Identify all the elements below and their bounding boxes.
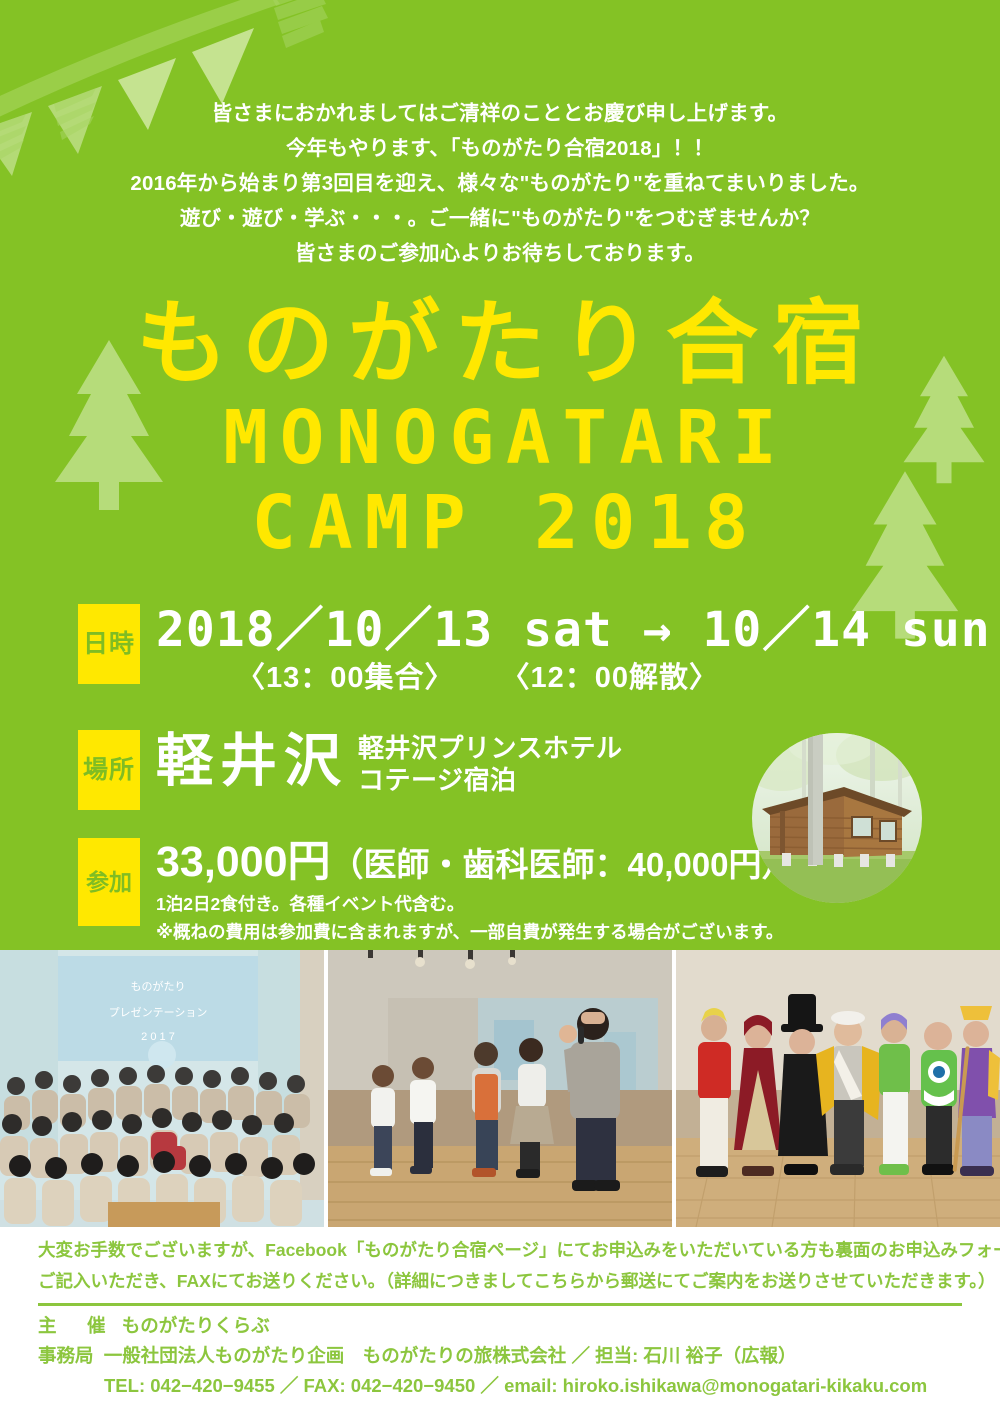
title-english-line2: CAMP 2018 xyxy=(0,480,1000,566)
datetime-gather: 〈13：00集合〉 xyxy=(236,662,455,694)
stage-presentation-photo xyxy=(328,950,672,1227)
place-name: 軽井沢 xyxy=(156,730,348,792)
place-detail-line1: 軽井沢プリンスホテル xyxy=(358,732,622,764)
footer-note-line2: ご記入いただき、FAXにてお送りください。（詳細につきましてこちらから郵送にてご… xyxy=(38,1266,962,1297)
place-main-wrap: 軽井沢 軽井沢プリンスホテル コテージ宿泊 xyxy=(156,730,622,796)
organizer-row: 主 催 ものがたりくらぶ xyxy=(38,1311,978,1341)
poster-root: 皆さまにおかれましてはご清祥のこととお慶び申し上げます。 今年もやります、「もの… xyxy=(0,0,1000,1414)
footer-note-line1: 大変お手数でございますが、Facebook「ものがたり合宿ページ」にてお申込みを… xyxy=(38,1235,962,1266)
intro-line-5: 皆さまのご参加心よりお待ちしております。 xyxy=(0,236,1000,271)
organizer-label: 主 催 xyxy=(38,1311,112,1341)
datetime-sub: 〈13：00集合〉〈12：00解散〉 xyxy=(156,656,991,700)
svg-text:ものがたり: ものがたり xyxy=(131,979,186,993)
secretariat-value: 一般社団法人ものがたり企画 ものがたりの旅株式会社 ／ 担当: 石川 裕子（広報… xyxy=(104,1345,797,1366)
intro-line-4: 遊び・遊び・学ぶ・・・。ご一緒に"ものがたり"をつむぎませんか？ xyxy=(0,201,1000,236)
place-detail-line2: コテージ宿泊 xyxy=(358,764,622,796)
fee-amount: 33,000円 xyxy=(156,838,331,886)
place-detail: 軽井沢プリンスホテル コテージ宿泊 xyxy=(348,730,622,796)
costume-group-photo xyxy=(676,950,1000,1227)
footer-application-note: 大変お手数でございますが、Facebook「ものがたり合宿ページ」にてお申込みを… xyxy=(38,1235,962,1297)
tag-fee-label: 参加費 xyxy=(78,838,140,926)
intro-line-3: 2016年から始まり第3回目を迎え、様々な"ものがたり"を重ねてまいりました。 xyxy=(0,166,1000,201)
tag-datetime-label: 日時 xyxy=(78,604,140,684)
group-photo-2017: ものがたり プレゼンテーション 2 0 1 7 xyxy=(0,950,324,1227)
poster-title-block: ものがたり合宿 MONOGATARI CAMP 2018 xyxy=(0,292,1000,566)
contact-row: TEL: 042−420−9455 ／ FAX: 042−420−9450 ／ … xyxy=(38,1371,978,1401)
intro-line-2: 今年もやります、「ものがたり合宿2018」！！ xyxy=(0,131,1000,166)
fee-amount-note: （医師・歯科医師：40,000円） xyxy=(331,846,795,883)
fee-body: 33,000円（医師・歯科医師：40,000円） 1泊2日2食付き。各種イベント… xyxy=(140,838,794,945)
fee-note-line2: ※概ねの費用は参加費に含まれますが、一部自費が発生する場合がございます。 xyxy=(156,920,794,945)
title-japanese: ものがたり合宿 xyxy=(0,292,1000,396)
organizer-value: ものがたりくらぶ xyxy=(122,1315,270,1336)
datetime-dismiss: 〈12：00解散〉 xyxy=(501,662,720,694)
secretariat-row: 事務局 一般社団法人ものがたり企画 ものがたりの旅株式会社 ／ 担当: 石川 裕… xyxy=(38,1341,978,1371)
footer-organizer-block: 主 催 ものがたりくらぶ 事務局 一般社団法人ものがたり企画 ものがたりの旅株式… xyxy=(38,1311,978,1401)
info-row-datetime: 日時 2018／10／13 sat → 10／14 sun 〈13：00集合〉〈… xyxy=(78,604,958,700)
svg-text:2 0 1 7: 2 0 1 7 xyxy=(141,1031,175,1043)
fee-main: 33,000円（医師・歯科医師：40,000円） xyxy=(156,838,794,889)
place-body: 軽井沢 軽井沢プリンスホテル コテージ宿泊 xyxy=(140,730,622,796)
intro-paragraph: 皆さまにおかれましてはご清祥のこととお慶び申し上げます。 今年もやります、「もの… xyxy=(0,96,1000,271)
tag-place-label: 場所 xyxy=(78,730,140,810)
title-english-line1: MONOGATARI xyxy=(0,396,1000,480)
fee-note-line1: 1泊2日2食付き。各種イベント代含む。 xyxy=(156,892,794,917)
hero-green-panel: 皆さまにおかれましてはご清祥のこととお慶び申し上げます。 今年もやります、「もの… xyxy=(0,0,1000,950)
svg-text:プレゼンテーション: プレゼンテーション xyxy=(109,1006,208,1019)
photo-strip: ものがたり プレゼンテーション 2 0 1 7 xyxy=(0,950,1000,1227)
secretariat-label: 事務局 xyxy=(38,1345,94,1366)
intro-line-1: 皆さまにおかれましてはご清祥のこととお慶び申し上げます。 xyxy=(0,96,1000,131)
karuizawa-cottage-photo xyxy=(752,733,922,903)
datetime-body: 2018／10／13 sat → 10／14 sun 〈13：00集合〉〈12：… xyxy=(140,604,991,700)
footer-divider xyxy=(38,1303,962,1306)
datetime-main: 2018／10／13 sat → 10／14 sun xyxy=(156,604,991,656)
